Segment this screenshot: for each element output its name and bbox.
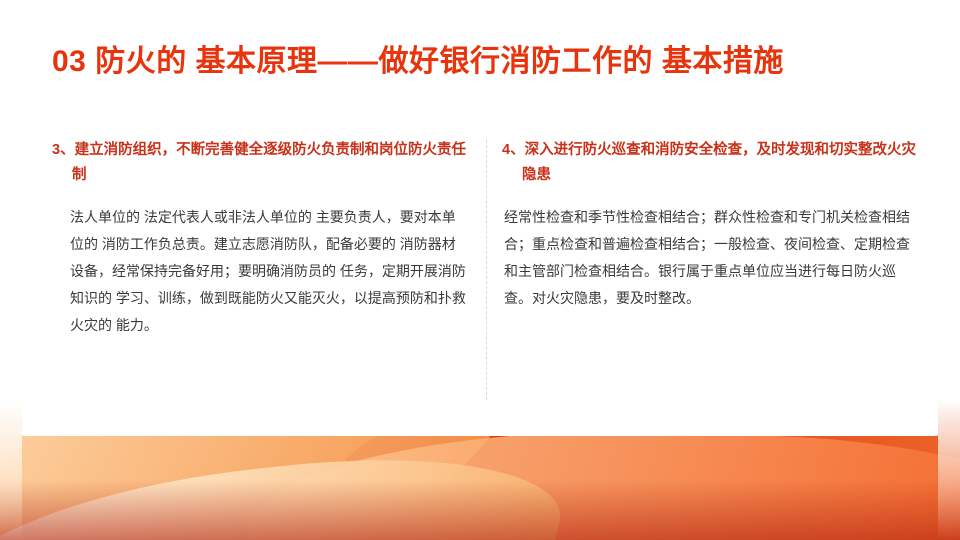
slide-title: 03 防火的 基本原理——做好银行消防工作的 基本措施 [52,42,914,82]
column-left-heading: 3、建立消防组织，不断完善健全逐级防火负责制和岗位防火责任制 [52,138,468,188]
column-divider [486,140,487,400]
presentation-slide: 03 防火的 基本原理——做好银行消防工作的 基本措施 3、建立消防组织，不断完… [0,0,960,540]
columns-container: 3、建立消防组织，不断完善健全逐级防火负责制和岗位防火责任制 法人单位的 法定代… [52,138,918,339]
column-left-body: 法人单位的 法定代表人或非法人单位的 主要负责人，要对本单位的 消防工作负总责。… [52,204,468,339]
column-left: 3、建立消防组织，不断完善健全逐级防火负责制和岗位防火责任制 法人单位的 法定代… [52,138,468,339]
column-right: 4、深入进行防火巡查和消防安全检查，及时发现和切实整改火灾隐患 经常性检查和季节… [502,138,918,339]
column-right-heading: 4、深入进行防火巡查和消防安全检查，及时发现和切实整改火灾隐患 [502,138,918,188]
slide-content: 03 防火的 基本原理——做好银行消防工作的 基本措施 3、建立消防组织，不断完… [0,0,960,540]
column-right-body: 经常性检查和季节性检查相结合；群众性检查和专门机关检查相结合；重点检查和普遍检查… [502,204,918,312]
